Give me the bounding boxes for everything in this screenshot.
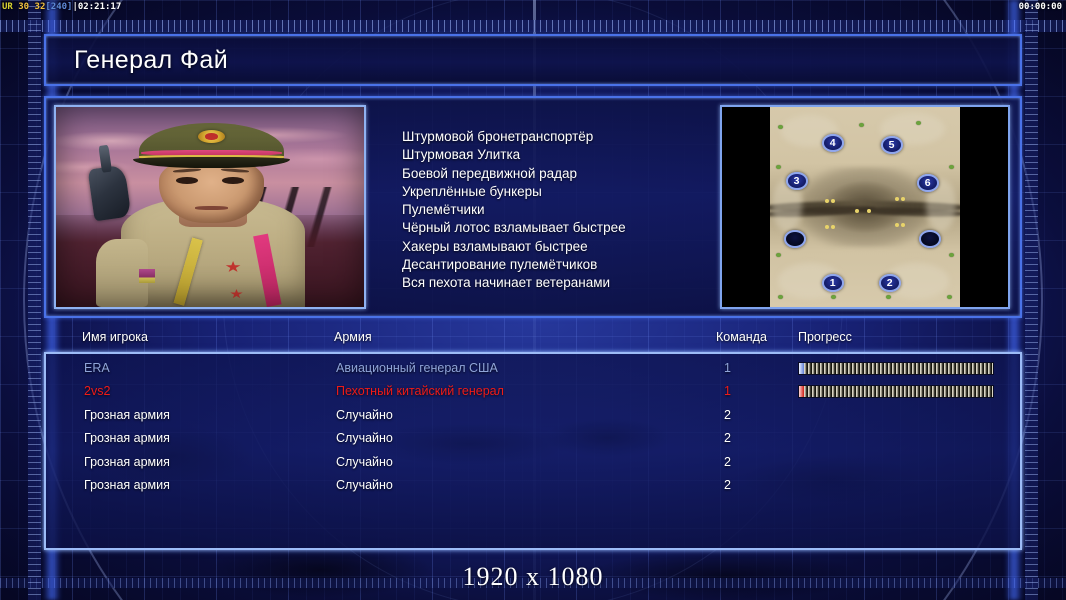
game-timer: 00:00:00	[1019, 2, 1062, 12]
map-oil-derrick-icon	[825, 225, 829, 229]
player-name: Грозная армия	[84, 431, 170, 445]
player-army[interactable]: Случайно	[336, 478, 393, 492]
map-supply-dock-icon	[778, 295, 783, 299]
ruler-left	[28, 0, 41, 600]
table-row[interactable]: Грозная армияСлучайно2	[56, 405, 1010, 428]
player-team[interactable]: 2	[724, 478, 731, 492]
column-header-team: Команда	[716, 330, 767, 344]
player-table-header: Имя игрока Армия Команда Прогресс	[44, 328, 1022, 350]
map-oil-derrick-icon	[825, 199, 829, 203]
progress-ticks	[804, 386, 993, 397]
portrait-eye-right	[222, 177, 244, 184]
map-start-position[interactable]	[919, 230, 941, 248]
map-start-position[interactable]: 4	[822, 134, 844, 152]
general-abilities-list: Штурмовой бронетранспортёрШтурмовая Улит…	[366, 128, 720, 293]
player-name: 2vs2	[84, 384, 110, 398]
player-name: Грозная армия	[84, 408, 170, 422]
player-team[interactable]: 2	[724, 431, 731, 445]
ability-line: Укреплённые бункеры	[402, 183, 710, 201]
lobby-frame: Генерал Фай	[44, 34, 1022, 556]
ability-line: Штурмовая Улитка	[402, 146, 710, 164]
player-progress-bar	[798, 385, 994, 398]
map-oil-derrick-icon	[867, 209, 871, 213]
ruler-right	[1025, 0, 1038, 600]
portrait-eye-left	[176, 177, 198, 184]
title-bar: Генерал Фай	[44, 34, 1022, 86]
player-name: Грозная армия	[84, 455, 170, 469]
hud-fps: 30	[18, 2, 29, 12]
map-start-position[interactable]	[784, 230, 806, 248]
map-oil-derrick-icon	[901, 197, 905, 201]
player-army[interactable]: Случайно	[336, 408, 393, 422]
map-supply-dock-icon	[949, 253, 954, 257]
map-preview-image: 453612	[770, 107, 960, 307]
map-supply-dock-icon	[859, 123, 864, 127]
column-header-progress: Прогресс	[798, 330, 852, 344]
table-row[interactable]: ERAАвиационный генерал США1	[56, 358, 1010, 381]
map-supply-dock-icon	[776, 165, 781, 169]
general-portrait	[54, 105, 366, 309]
ability-line: Чёрный лотос взламывает быстрее	[402, 219, 710, 237]
page-title: Генерал Фай	[74, 46, 228, 75]
map-supply-dock-icon	[776, 253, 781, 257]
map-oil-derrick-icon	[831, 225, 835, 229]
player-team[interactable]: 1	[724, 384, 731, 398]
map-start-position[interactable]: 3	[786, 172, 808, 190]
player-team[interactable]: 2	[724, 455, 731, 469]
general-info-panel: Штурмовой бронетранспортёрШтурмовая Улит…	[44, 96, 1022, 318]
player-army[interactable]: Авиационный генерал США	[336, 361, 498, 375]
map-preview-frame[interactable]: 453612	[720, 105, 1010, 309]
table-row[interactable]: Грозная армияСлучайно2	[56, 428, 1010, 451]
table-row[interactable]: Грозная армияСлучайно2	[56, 452, 1010, 475]
hud-value2: 32	[35, 2, 46, 12]
player-name: ERA	[84, 361, 110, 375]
hud-label: UR	[2, 2, 13, 12]
ability-line: Десантирование пулемётчиков	[402, 256, 710, 274]
column-header-army: Армия	[334, 330, 372, 344]
resolution-label: 1920 x 1080	[0, 562, 1066, 592]
column-header-player: Имя игрока	[82, 330, 148, 344]
ability-line: Хакеры взламывают быстрее	[402, 238, 710, 256]
ability-line: Боевой передвижной радар	[402, 165, 710, 183]
ability-line: Штурмовой бронетранспортёр	[402, 128, 710, 146]
hud-value3: [240]	[45, 2, 72, 12]
portrait-medal	[139, 269, 154, 283]
ruler-top	[0, 20, 1066, 32]
player-army[interactable]: Случайно	[336, 455, 393, 469]
table-row[interactable]: 2vs2Пехотный китайский генерал1	[56, 381, 1010, 404]
map-supply-dock-icon	[778, 125, 783, 129]
map-start-position[interactable]: 2	[879, 274, 901, 292]
map-supply-dock-icon	[949, 165, 954, 169]
map-supply-dock-icon	[886, 295, 891, 299]
portrait-mouth	[195, 206, 229, 210]
map-start-position[interactable]: 1	[822, 274, 844, 292]
map-supply-dock-icon	[831, 295, 836, 299]
performance-hud: UR 30 32[240]|02:21:17	[2, 2, 121, 12]
player-team[interactable]: 2	[724, 408, 731, 422]
map-supply-dock-icon	[947, 295, 952, 299]
player-table: ERAАвиационный генерал США12vs2Пехотный …	[44, 352, 1022, 550]
ability-line: Вся пехота начинает ветеранами	[402, 274, 710, 292]
ability-line: Пулемётчики	[402, 201, 710, 219]
table-row[interactable]: Грозная армияСлучайно2	[56, 475, 1010, 498]
progress-ticks	[804, 363, 993, 374]
player-name: Грозная армия	[84, 478, 170, 492]
player-team[interactable]: 1	[724, 361, 731, 375]
map-start-position[interactable]: 5	[881, 136, 903, 154]
player-army[interactable]: Случайно	[336, 431, 393, 445]
map-oil-derrick-icon	[831, 199, 835, 203]
player-army[interactable]: Пехотный китайский генерал	[336, 384, 504, 398]
game-screen: UR 30 32[240]|02:21:17 00:00:00 Генерал …	[0, 0, 1066, 600]
player-progress-bar	[798, 362, 994, 375]
map-start-position[interactable]: 6	[917, 174, 939, 192]
hud-clock: 02:21:17	[78, 2, 121, 12]
map-oil-derrick-icon	[901, 223, 905, 227]
